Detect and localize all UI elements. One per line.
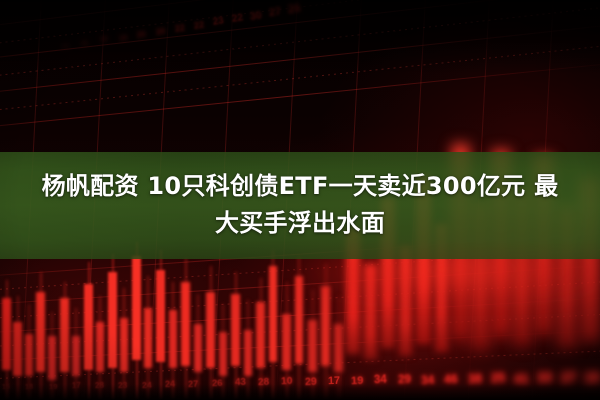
headline-title: 杨帆配资 10只科创债ETF一天卖近300亿元 最 大买手浮出水面: [0, 168, 600, 242]
axis-number: 28: [258, 378, 270, 389]
axis-number: 15: [2, 384, 10, 391]
axis-number: 17: [72, 382, 81, 390]
headline-line-1: 杨帆配资 10只科创债ETF一天卖近300亿元 最: [0, 168, 600, 205]
axis-number: 24: [142, 380, 152, 389]
headline-line-2: 大买手浮出水面: [0, 205, 600, 242]
stock-chart-news-image: 14161819202022222322302726 杨帆配资 10只科创债ET…: [0, 0, 600, 400]
axis-number: 19: [584, 370, 600, 385]
axis-number: 24: [165, 380, 175, 389]
axis-number: 27: [188, 379, 199, 389]
axis-number: 29: [304, 376, 316, 387]
axis-number: 33: [537, 371, 552, 385]
axis-number: 43: [235, 378, 246, 388]
axis-number: 19: [48, 383, 57, 391]
axis-number: 46: [444, 373, 458, 386]
axis-number: 26: [211, 379, 222, 389]
axis-number: 17: [328, 376, 341, 387]
axis-number: 18: [25, 383, 33, 391]
axis-number: 19: [351, 375, 364, 387]
axis-number: 29: [398, 374, 412, 386]
axis-number: 10: [281, 377, 293, 388]
axis-number: 34: [374, 375, 387, 387]
axis-number: 34: [421, 374, 435, 387]
axis-number: 27: [560, 370, 576, 384]
axis-number: 25: [491, 372, 506, 385]
axis-number: 41: [514, 371, 529, 385]
axis-number: 28: [95, 382, 104, 390]
axis-number: 23: [118, 381, 128, 390]
axis-number: 38: [467, 373, 481, 386]
